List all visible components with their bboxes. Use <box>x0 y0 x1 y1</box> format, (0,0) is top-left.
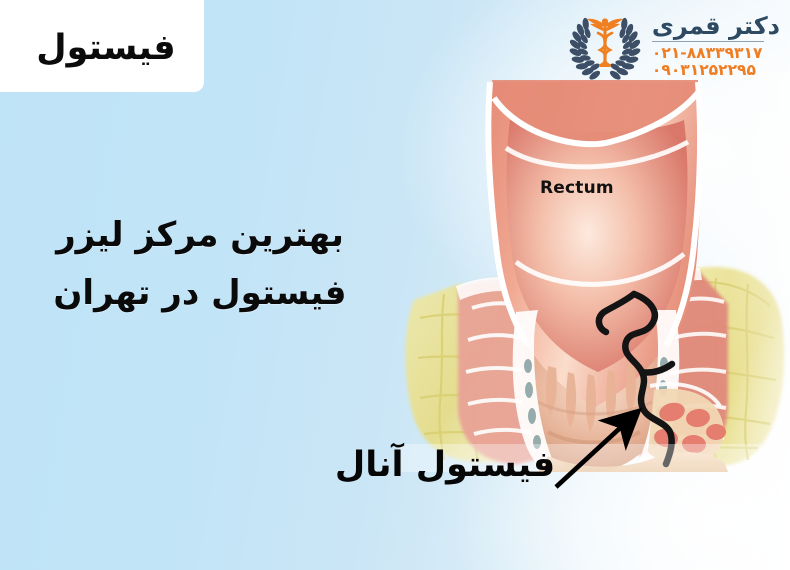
brand-underline <box>652 41 764 42</box>
keyword-title-plate: فیستول <box>0 0 204 92</box>
logo-text-group: دکتر قمری ۰۲۱-۸۸۳۳۹۳۱۷ ۰۹۰۳۱۲۵۲۲۹۵ <box>652 14 782 78</box>
fistula-caption: فیستول آنال <box>300 446 590 485</box>
headline-text: بهترین مرکز لیزر فیستول در تهران <box>0 206 400 323</box>
clinic-phone-mobile: ۰۹۰۳۱۲۵۲۲۹۵ <box>652 62 756 78</box>
rectum-label: Rectum <box>540 178 614 198</box>
caduceus-symbol <box>587 18 623 67</box>
headline-line-1: بهترین مرکز لیزر <box>0 206 400 264</box>
clinic-phone-landline: ۰۲۱-۸۸۳۳۹۳۱۷ <box>652 45 763 61</box>
headline-line-2: فیستول در تهران <box>0 264 400 322</box>
caduceus-laurel-wreath-icon <box>568 9 642 83</box>
keyword-text: فیستول <box>36 31 175 66</box>
poster-canvas: Rectum فیستول دکتر قمری ۰۲۱-۸۸۳۳۹۳۱۷ ۰۹۰… <box>0 0 790 570</box>
clinic-logo-block[interactable]: دکتر قمری ۰۲۱-۸۸۳۳۹۳۱۷ ۰۹۰۳۱۲۵۲۲۹۵ <box>568 4 782 88</box>
clinic-brand-name: دکتر قمری <box>652 14 780 39</box>
